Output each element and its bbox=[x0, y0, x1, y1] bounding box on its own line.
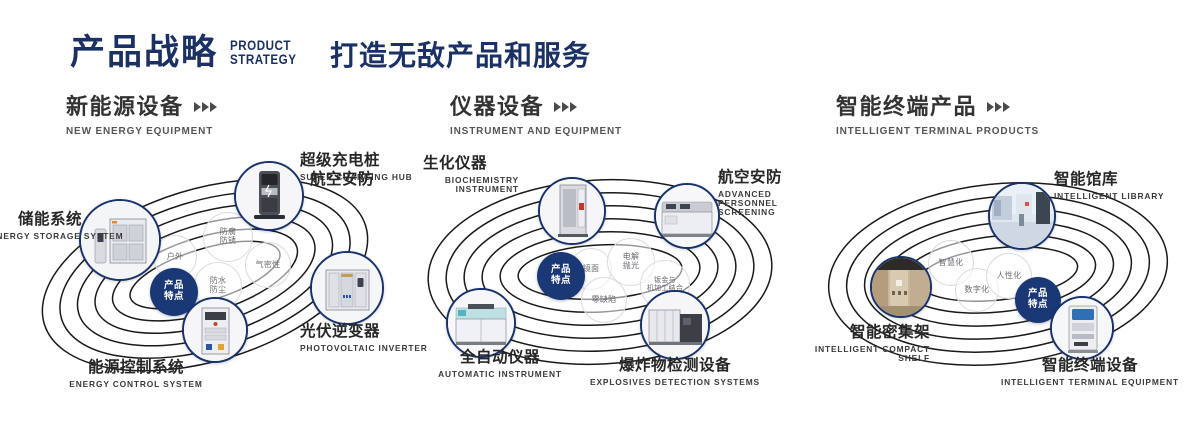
section-title-cn: 智能终端产品 bbox=[836, 96, 977, 118]
chevron-right-icon bbox=[554, 102, 577, 112]
node-explosives-detection[interactable] bbox=[640, 290, 710, 360]
node-charging-hub[interactable] bbox=[234, 161, 304, 231]
node-energy-control[interactable] bbox=[182, 297, 248, 363]
section-header-new-energy: 新能源设备 NEW ENERGY EQUIPMENT bbox=[66, 96, 221, 137]
node-label-terminal-equipment: 智能终端设备 INTELLIGENT TERMINAL EQUIPMENT bbox=[990, 358, 1190, 387]
node-label-energy-storage: 储能系统 ENERGY STORAGE SYSTEM bbox=[0, 212, 82, 241]
node-terminal-equipment[interactable] bbox=[1050, 296, 1114, 360]
page-slogan: 打造无敌产品和服务 bbox=[330, 34, 591, 74]
screening-machine-icon bbox=[656, 185, 718, 247]
page-title: 产品战略 PRODUCT STRATEGY bbox=[70, 22, 307, 82]
node-label-automatic-instrument: 全自动仪器 AUTOMATIC INSTRUMENT bbox=[390, 350, 610, 379]
node-label-energy-control: 能源控制系统 ENERGY CONTROL SYSTEM bbox=[36, 360, 236, 389]
node-automatic-instrument[interactable] bbox=[446, 288, 516, 358]
control-cabinet-icon bbox=[184, 299, 246, 361]
explosives-detector-icon bbox=[642, 292, 708, 358]
node-label-personnel-screening: 航空安防 ADVANCED PERSONNEL SCREENING bbox=[718, 170, 810, 217]
product-features-bubble: 产品 特点 bbox=[537, 252, 585, 300]
node-label-biochemistry: 生化仪器 BIOCHEMISTRY INSTRUMENT bbox=[423, 156, 519, 194]
section-header-instrument: 仪器设备 INSTRUMENT AND EQUIPMENT bbox=[450, 96, 631, 137]
section-title-cn: 仪器设备 bbox=[450, 96, 544, 118]
charging-pile-icon bbox=[236, 163, 302, 229]
section-title-en: NEW ENERGY EQUIPMENT bbox=[66, 125, 213, 137]
page-title-cn: 产品战略 bbox=[70, 35, 218, 70]
automatic-instrument-icon bbox=[448, 290, 514, 356]
node-intelligent-library[interactable] bbox=[988, 182, 1056, 250]
section-title-en: INSTRUMENT AND EQUIPMENT bbox=[450, 125, 622, 137]
page-title-en-line1: PRODUCT bbox=[230, 39, 296, 53]
biochemistry-analyzer-icon bbox=[540, 179, 604, 243]
node-personnel-screening[interactable] bbox=[654, 183, 720, 249]
compact-shelf-icon bbox=[872, 258, 930, 316]
node-biochemistry[interactable] bbox=[538, 177, 606, 245]
page-title-en: PRODUCT STRATEGY bbox=[230, 37, 296, 67]
node-compact-shelf[interactable] bbox=[870, 256, 932, 318]
node-label-compact-shelf: 智能密集架 INTELLIGENT COMPACT SHELF bbox=[780, 325, 930, 363]
node-pv-inverter[interactable] bbox=[310, 251, 384, 325]
chevron-right-icon bbox=[987, 102, 1010, 112]
library-room-icon bbox=[990, 184, 1054, 248]
node-label-intelligent-library: 智能馆库 INTELLIGENT LIBRARY bbox=[1054, 172, 1164, 201]
section-header-intelligent: 智能终端产品 INTELLIGENT TERMINAL PRODUCTS bbox=[836, 96, 1050, 137]
feature-bubble: 气密性 bbox=[245, 242, 291, 288]
self-service-kiosk-icon bbox=[1052, 298, 1112, 358]
diagram-intelligent-terminal: 智慧化 数字化 人性化 产品 特点 bbox=[800, 150, 1200, 405]
diagram-instrument: 镜面 电解 抛光 钣金与 机加工结合 零缺陷 产品 特点 bbox=[400, 150, 810, 405]
page-title-en-line2: STRATEGY bbox=[230, 53, 296, 67]
chevron-right-icon bbox=[194, 102, 217, 112]
section-title-en: INTELLIGENT TERMINAL PRODUCTS bbox=[836, 125, 1039, 137]
feature-bubble: 零缺陷 bbox=[581, 277, 627, 323]
inverter-cabinet-icon bbox=[312, 253, 382, 323]
section-title-cn: 新能源设备 bbox=[66, 96, 184, 118]
node-label-aviation-security-left: 航空安防 bbox=[310, 172, 374, 189]
poster-canvas: 产品战略 PRODUCT STRATEGY 打造无敌产品和服务 新能源设备 NE… bbox=[0, 0, 1200, 422]
